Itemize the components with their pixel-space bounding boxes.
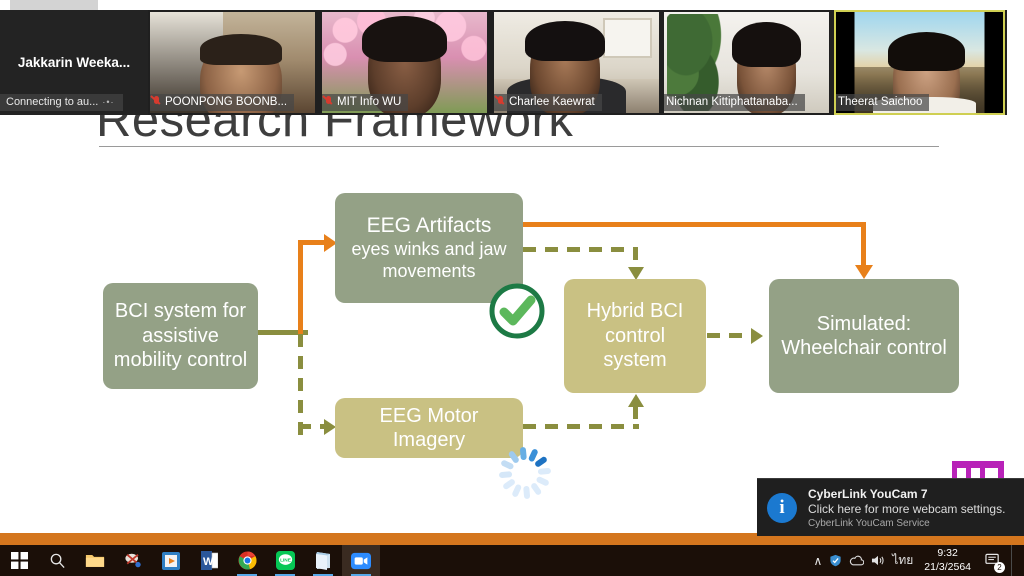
node-hybrid-bci-control-system[interactable]: Hybrid BCI control system — [564, 279, 706, 393]
loading-spinner-icon — [493, 441, 557, 505]
node-simulated-label: Simulated: Wheelchair control — [779, 312, 949, 361]
zoom-participant-tile[interactable]: Charlee Kaewrat — [494, 12, 659, 113]
participant-name-label: POONPONG BOONB... — [150, 94, 294, 111]
word-icon: W — [201, 551, 218, 570]
line-app-button[interactable]: LINE — [266, 545, 304, 576]
node-eeg-artifacts-subtitle: eyes winks and jaw movements — [345, 239, 513, 283]
zoom-connection-dots: ·•· — [102, 97, 114, 107]
connector-orange-into-artifacts — [298, 240, 326, 245]
file-explorer-button[interactable] — [76, 545, 114, 576]
title-divider — [99, 146, 939, 147]
windows-logo-icon — [11, 552, 28, 569]
connector-dashed-into-motor — [298, 424, 326, 429]
chrome-icon — [238, 551, 257, 570]
onenote-app-button[interactable] — [304, 545, 342, 576]
media-player-button[interactable] — [152, 545, 190, 576]
connector-orange-top-horizontal — [523, 222, 866, 227]
node-bci-label: BCI system for assistive mobility contro… — [113, 299, 248, 372]
tray-chevron-icon[interactable]: ∧ — [814, 554, 823, 568]
start-button[interactable] — [0, 545, 38, 576]
windows-taskbar[interactable]: W LINE — [0, 545, 1024, 576]
muted-microphone-icon — [152, 96, 161, 108]
participant-name-text: Nichnan Kittiphattanaba... — [666, 96, 798, 108]
onedrive-icon[interactable] — [849, 555, 864, 567]
scissors-icon — [124, 552, 143, 570]
zoom-connection-status-text: Connecting to au... — [6, 96, 98, 108]
arrowhead-olive-up-to-hybrid — [628, 394, 644, 407]
participant-name-text: Theerat Saichoo — [838, 96, 922, 108]
notification-toast[interactable]: i CyberLink YouCam 7 Click here for more… — [757, 478, 1024, 536]
zoom-participant-tile[interactable]: MIT Info WU — [322, 12, 487, 113]
connector-orange-down-to-simulated — [861, 222, 866, 267]
connector-dashed-down-to-hybrid — [633, 247, 638, 269]
participant-name-label: MIT Info WU — [322, 94, 408, 111]
search-icon — [49, 552, 66, 569]
connector-dashed-up-to-hybrid — [633, 406, 638, 429]
play-icon — [162, 552, 180, 570]
connector-dashed-down-to-motor — [298, 334, 303, 436]
notification-count-badge: 2 — [994, 562, 1005, 573]
desktop-screen: Research Framework BCI system for assist… — [0, 0, 1024, 576]
connector-dashed-artifacts-right — [523, 247, 638, 252]
action-center-button[interactable]: 2 — [982, 550, 1004, 572]
security-shield-icon[interactable] — [829, 554, 842, 567]
muted-microphone-icon — [496, 96, 505, 108]
google-chrome-button[interactable] — [228, 545, 266, 576]
svg-text:LINE: LINE — [280, 557, 291, 563]
zoom-participant-tile[interactable]: POONPONG BOONB... — [150, 12, 315, 113]
line-icon: LINE — [276, 551, 295, 570]
participant-name-text: MIT Info WU — [337, 96, 401, 108]
clock-date: 21/3/2564 — [924, 561, 971, 574]
notification-body[interactable]: Click here for more webcam settings. — [808, 502, 1005, 516]
participant-name-text: POONPONG BOONB... — [165, 96, 287, 108]
participant-name-label: Theerat Saichoo — [836, 94, 929, 111]
language-indicator[interactable]: ไทย — [892, 551, 913, 570]
background-window-edge — [10, 0, 98, 10]
zoom-camera-icon — [351, 552, 371, 570]
volume-icon[interactable] — [871, 554, 885, 567]
notebook-icon — [314, 551, 332, 570]
connector-dashed-hybrid-to-simulated — [707, 333, 753, 338]
search-button[interactable] — [38, 545, 76, 576]
microsoft-word-button[interactable]: W — [190, 545, 228, 576]
clock-time: 9:32 — [924, 547, 971, 560]
zoom-connection-status[interactable]: Connecting to au...·•· — [0, 94, 123, 111]
node-simulated-wheelchair-control[interactable]: Simulated: Wheelchair control — [769, 279, 959, 393]
participant-name-label: Charlee Kaewrat — [494, 94, 602, 111]
node-bci-system[interactable]: BCI system for assistive mobility contro… — [103, 283, 258, 389]
notification-source: CyberLink YouCam Service — [808, 518, 1005, 529]
arrowhead-olive-to-simulated — [751, 328, 763, 344]
zoom-meeting-button[interactable] — [342, 545, 380, 576]
participant-name-text: Charlee Kaewrat — [509, 96, 595, 108]
taskbar-clock[interactable]: 9:32 21/3/2564 — [920, 547, 975, 573]
muted-microphone-icon — [324, 96, 333, 108]
node-eeg-motor-imagery-label: EEG Motor Imagery — [345, 404, 513, 453]
green-check-icon — [487, 281, 547, 341]
node-eeg-artifacts-title: EEG Artifacts — [367, 213, 492, 239]
participant-name-label: Nichnan Kittiphattanaba... — [664, 94, 805, 111]
node-hybrid-label: Hybrid BCI control system — [574, 299, 696, 372]
zoom-participant-tile[interactable]: Nichnan Kittiphattanaba... — [664, 12, 829, 113]
snipping-tool-button[interactable] — [114, 545, 152, 576]
notification-title: CyberLink YouCam 7 — [808, 487, 1005, 501]
info-icon: i — [767, 493, 797, 523]
connector-orange-vertical-left — [298, 240, 303, 334]
svg-text:W: W — [203, 556, 214, 568]
zoom-participant-tile-active-speaker[interactable]: Theerat Saichoo — [834, 10, 1005, 115]
folder-icon — [85, 552, 105, 569]
connector-dashed-motor-right — [523, 424, 639, 429]
show-desktop-button[interactable] — [1011, 545, 1018, 576]
arrowhead-orange-to-simulated — [855, 265, 873, 279]
zoom-self-name: Jakkarin Weeka... — [18, 55, 130, 70]
